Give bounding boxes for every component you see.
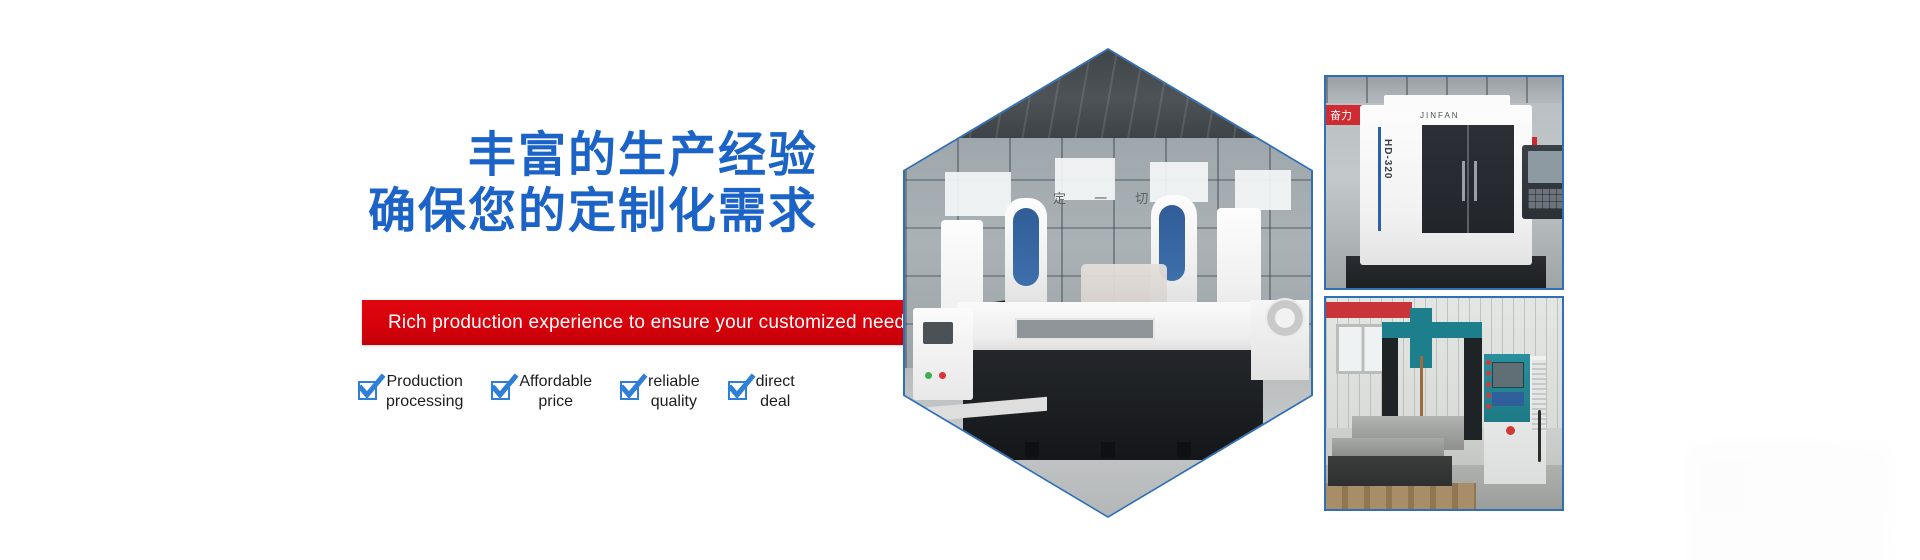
thumb1-enclosure-door <box>1422 125 1514 233</box>
thumb1-machine-top <box>1384 95 1510 111</box>
factory-window <box>1235 170 1291 210</box>
hexagon-photo: 定 一 切 <box>905 50 1311 516</box>
thumb2-table-base <box>1328 456 1452 486</box>
feature-label: direct deal <box>756 372 795 411</box>
feature-label: Production processing <box>386 372 463 411</box>
machine-green-button <box>925 372 932 379</box>
factory-roof <box>905 50 1311 142</box>
feature-item[interactable]: Affordable price <box>491 372 592 411</box>
checkbox-checked-icon[interactable] <box>491 381 510 400</box>
subtitle-bar: Rich production experience to ensure you… <box>362 300 940 345</box>
checkbox-checked-icon[interactable] <box>358 381 377 400</box>
feature-item[interactable]: reliable quality <box>620 372 700 411</box>
thumb1-control-panel <box>1522 145 1564 219</box>
thumb1-keypad <box>1528 189 1564 209</box>
thumb2-control-keypad <box>1492 392 1524 406</box>
feature-list: Production processing Affordable price <box>358 372 823 411</box>
feature-label-line-1: Production <box>386 373 463 390</box>
machine-foot <box>1025 442 1039 458</box>
thumb1-wall-banner-text: 奋力 <box>1330 107 1352 123</box>
feature-label-line-1: Affordable <box>519 373 592 390</box>
feature-label-line-1: reliable <box>648 373 700 390</box>
thumb1-door-handle <box>1462 161 1465 201</box>
thumb1-machine-body: JINFAN HD-320 <box>1360 105 1532 265</box>
feature-label-line-2: deal <box>760 393 790 410</box>
thumb2-gantry-right <box>1464 322 1482 440</box>
banner-stage: 丰富的生产经验 确保您的定制化需求 Rich production experi… <box>0 0 1920 560</box>
thumb2-gantry-beam <box>1382 322 1482 338</box>
feature-label-line-2: price <box>538 393 573 410</box>
thumb1-control-screen <box>1528 151 1564 183</box>
headline-line-2: 确保您的定制化需求 <box>0 184 818 240</box>
machine-left-unit <box>913 308 973 400</box>
machine-spool <box>1265 298 1305 338</box>
thumb1-model-label: HD-320 <box>1382 139 1393 179</box>
feature-item[interactable]: Production processing <box>358 372 463 411</box>
hero-image-hexagon[interactable]: 定 一 切 <box>903 48 1313 518</box>
machine-foot <box>1177 442 1191 458</box>
thumb1-blue-stripe <box>1378 127 1381 231</box>
subtitle-bar-text: Rich production experience to ensure you… <box>388 312 915 334</box>
thumb2-cable <box>1538 410 1541 462</box>
feature-label-line-1: direct <box>756 373 795 390</box>
feature-label: reliable quality <box>648 372 700 411</box>
headline: 丰富的生产经验 确保您的定制化需求 <box>0 128 840 239</box>
thumb2-indicator-lights <box>1486 360 1491 416</box>
thumb2-wall-banner <box>1326 302 1412 318</box>
thumb1-brand-text: JINFAN <box>1420 111 1460 120</box>
feature-label: Affordable price <box>519 372 592 411</box>
feature-label-line-2: processing <box>386 393 463 410</box>
factory-window <box>945 172 1011 216</box>
checkbox-checked-icon[interactable] <box>620 381 639 400</box>
machine-foot <box>1101 442 1115 458</box>
thumb2-control-screen <box>1492 362 1524 388</box>
thumb2-emergency-stop <box>1506 426 1515 435</box>
thumb1-door-handle <box>1474 161 1477 201</box>
feature-item[interactable]: direct deal <box>728 372 795 411</box>
headline-line-1: 丰富的生产经验 <box>0 128 818 184</box>
checkbox-checked-icon[interactable] <box>728 381 747 400</box>
thumb2-pallet <box>1326 483 1476 509</box>
machine-viewing-slot <box>1015 318 1155 340</box>
thumbnail-edm-machine[interactable] <box>1324 296 1564 511</box>
machine-red-button <box>939 372 946 379</box>
machine-window-panel <box>1013 208 1039 286</box>
thumbnail-hd320[interactable]: 奋力 JINFAN HD-320 <box>1324 75 1564 290</box>
feature-label-line-2: quality <box>651 393 697 410</box>
